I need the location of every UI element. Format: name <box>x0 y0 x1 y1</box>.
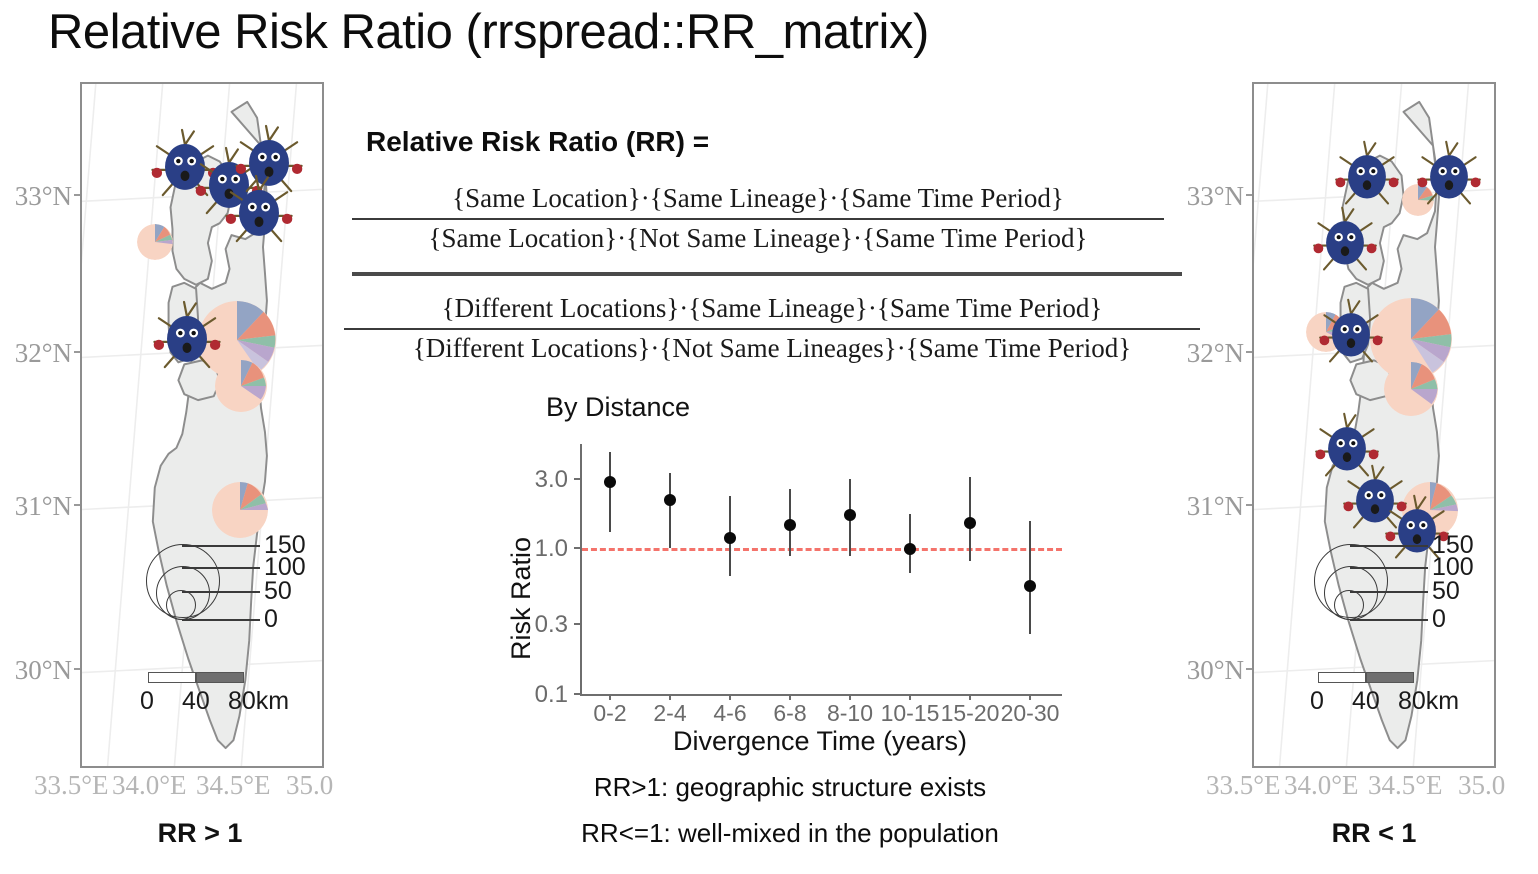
chart-y-tick-label: 3.0 <box>510 466 568 494</box>
formula-heading: Relative Risk Ratio (RR) = <box>366 126 709 158</box>
map-caption-left: RR > 1 <box>100 818 300 849</box>
bubble-size-legend-right: 150 100 50 0 <box>1254 544 1454 664</box>
chart-error-bar <box>1029 521 1031 634</box>
pie-chart-bubble <box>1384 362 1438 416</box>
legend-leader-150 <box>182 545 260 547</box>
chart-y-tick-label: 1.0 <box>510 535 568 563</box>
formula-bottom-denominator: {Different Locations}·{Not Same Lineages… <box>344 332 1200 366</box>
formula-top-bar <box>352 218 1164 220</box>
lon-label-340e-left: 34.0°E <box>112 770 187 801</box>
lon-label-350e-left: 35.0 <box>286 770 333 801</box>
map-canvas-right: 150 100 50 0 0 40 80km <box>1252 82 1496 768</box>
chart-y-tick-mark <box>574 478 580 480</box>
virus-icon <box>222 170 296 250</box>
lon-label-350e-right: 35.0 <box>1458 770 1505 801</box>
lon-label-335e-right: 33.5°E <box>1206 770 1281 801</box>
chart-y-tick-mark <box>574 623 580 625</box>
chart-error-bar <box>609 452 611 532</box>
chart-plot-area <box>580 444 1060 692</box>
lon-label-345e-left: 34.5°E <box>196 770 271 801</box>
legend-leader-0 <box>182 619 260 621</box>
chart-data-point[interactable] <box>1024 580 1036 592</box>
formula-main-bar <box>352 272 1182 276</box>
chart-error-bar <box>669 473 671 549</box>
virus-icon <box>150 296 224 376</box>
chart-data-point[interactable] <box>664 494 676 506</box>
chart-x-axis-line <box>580 694 1062 696</box>
legend-leader-50 <box>1350 591 1428 593</box>
chart-reference-line <box>582 548 1062 551</box>
map-caption-right: RR < 1 <box>1274 818 1474 849</box>
chart-x-axis-label: Divergence Time (years) <box>580 726 1060 757</box>
scalebar-seg-40-80 <box>196 672 244 683</box>
legend-leader-100 <box>182 567 260 569</box>
note-rr-greater-than-one: RR>1: geographic structure exists <box>500 772 1080 803</box>
page-title: Relative Risk Ratio (rrspread::RR_matrix… <box>48 4 929 60</box>
legend-circle-50 <box>1334 590 1364 620</box>
formula-bottom-numerator: {Different Locations}·{Same Lineage}·{Sa… <box>344 292 1200 326</box>
lat-label-31n-right: 31°N <box>1182 491 1244 522</box>
scalebar-label-0: 0 <box>140 687 154 716</box>
scalebar-seg-0-40 <box>1318 672 1366 683</box>
legend-leader-150 <box>1350 545 1428 547</box>
legend-circle-50 <box>166 590 196 620</box>
chart-x-tick-label: 20-30 <box>990 700 1070 727</box>
legend-label-0: 0 <box>1432 607 1446 632</box>
pie-chart-bubble <box>212 482 268 538</box>
chart-data-point[interactable] <box>964 517 976 529</box>
virus-icon <box>1332 136 1402 212</box>
chart-y-tick-mark <box>574 693 580 695</box>
scalebar-seg-0-40 <box>148 672 196 683</box>
chart-title: By Distance <box>546 392 690 423</box>
chart-data-point[interactable] <box>784 519 796 531</box>
map-canvas-left: 150 100 50 0 0 40 80km <box>80 82 324 768</box>
scalebar-label-80km: 80km <box>1398 687 1459 716</box>
lat-label-30n-right: 30°N <box>1182 655 1244 686</box>
virus-icon <box>1310 202 1380 278</box>
chart-data-point[interactable] <box>724 532 736 544</box>
chart-data-point[interactable] <box>844 509 856 521</box>
lon-label-345e-right: 34.5°E <box>1368 770 1443 801</box>
chart-y-tick-label: 0.3 <box>510 611 568 639</box>
scalebar-label-40: 40 <box>1352 687 1380 716</box>
chart-y-tick-label: 0.1 <box>510 681 568 709</box>
legend-leader-100 <box>1350 567 1428 569</box>
legend-label-50: 50 <box>264 579 292 604</box>
formula-bottom-fraction: {Different Locations}·{Same Lineage}·{Sa… <box>344 292 1200 366</box>
risk-ratio-chart: By Distance Risk Ratio 3.01.00.30.1 0-22… <box>500 392 1080 750</box>
pie-chart-bubble <box>137 224 173 260</box>
chart-y-axis-line <box>580 444 582 694</box>
map-scalebar-left: 0 40 80km <box>148 672 318 718</box>
legend-leader-0 <box>1350 619 1428 621</box>
lat-label-32n-left: 32°N <box>10 338 72 369</box>
virus-icon <box>1316 294 1386 370</box>
note-rr-less-equal-one: RR<=1: well-mixed in the population <box>480 818 1100 849</box>
chart-data-point[interactable] <box>904 543 916 555</box>
lon-label-340e-right: 34.0°E <box>1284 770 1359 801</box>
chart-y-tick-mark <box>574 547 580 549</box>
virus-icon <box>1414 136 1484 212</box>
bubble-size-legend-left: 150 100 50 0 <box>86 544 286 664</box>
scalebar-label-0: 0 <box>1310 687 1324 716</box>
legend-label-50: 50 <box>1432 579 1460 604</box>
legend-leader-50 <box>182 591 260 593</box>
lon-label-335e-left: 33.5°E <box>34 770 109 801</box>
chart-data-point[interactable] <box>604 476 616 488</box>
legend-label-0: 0 <box>264 607 278 632</box>
formula-top-fraction: {Same Location}·{Same Lineage}·{Same Tim… <box>352 182 1164 256</box>
lat-label-33n-left: 33°N <box>10 181 72 212</box>
scalebar-seg-40-80 <box>1366 672 1414 683</box>
formula-top-numerator: {Same Location}·{Same Lineage}·{Same Tim… <box>352 182 1164 216</box>
lat-label-30n-left: 30°N <box>10 655 72 686</box>
formula-bottom-bar <box>344 328 1200 330</box>
slide-root: Relative Risk Ratio (rrspread::RR_matrix… <box>0 0 1538 874</box>
scalebar-label-40: 40 <box>182 687 210 716</box>
map-scalebar-right: 0 40 80km <box>1318 672 1488 718</box>
scalebar-label-80km: 80km <box>228 687 289 716</box>
lat-label-31n-left: 31°N <box>10 491 72 522</box>
formula-top-denominator: {Same Location}·{Not Same Lineage}·{Same… <box>352 222 1164 256</box>
lat-label-33n-right: 33°N <box>1182 181 1244 212</box>
